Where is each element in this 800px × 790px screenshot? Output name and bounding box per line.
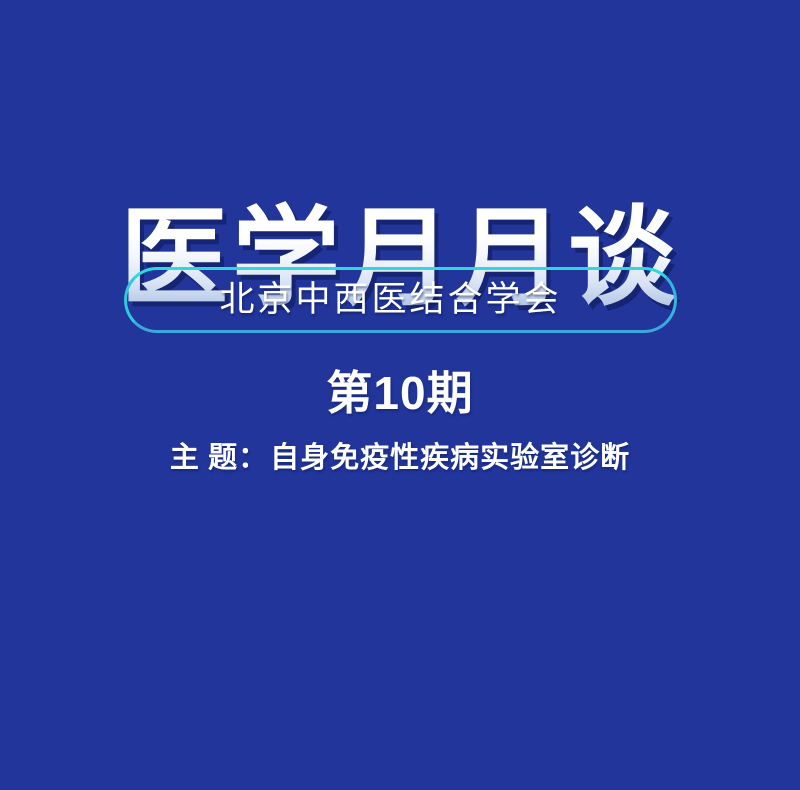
topic-label: 主 题： — [170, 442, 268, 474]
topic-value: 自身免疫性疾病实验室诊断 — [270, 442, 630, 474]
poster-canvas: 医学月月谈 北京中西医结合学会 第10期 主 题：自身免疫性疾病实验室诊断 — [0, 0, 800, 790]
issue-number: 第10期 — [0, 366, 800, 420]
topic-line: 主 题：自身免疫性疾病实验室诊断 — [0, 440, 800, 476]
lower-blank-area — [0, 500, 800, 790]
society-badge: 北京中西医结合学会 — [124, 267, 677, 333]
society-badge-label: 北京中西医结合学会 — [219, 280, 561, 320]
